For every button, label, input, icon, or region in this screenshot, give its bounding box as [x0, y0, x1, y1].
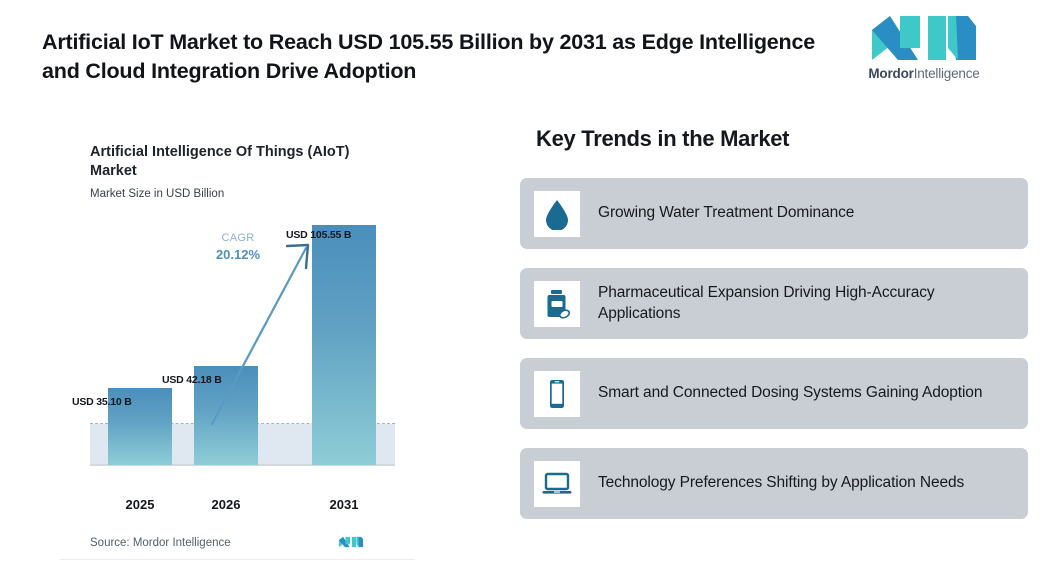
- chart-title: Artificial Intelligence Of Things (AIoT)…: [90, 143, 390, 181]
- infographic-page: Artificial IoT Market to Reach USD 105.5…: [0, 0, 1063, 583]
- page-header: Artificial IoT Market to Reach USD 105.5…: [0, 0, 1063, 110]
- water-drop-icon: [534, 191, 580, 237]
- page-title: Artificial IoT Market to Reach USD 105.5…: [42, 28, 832, 86]
- bar-value-label-2031: USD 105.55 B: [286, 229, 351, 241]
- chart-panel: Artificial Intelligence Of Things (AIoT)…: [60, 110, 415, 560]
- logo-word-light: Intelligence: [914, 66, 980, 81]
- key-trends-panel: Key Trends in the Market Growing Water T…: [520, 126, 1032, 538]
- pill-bottle-icon: [534, 281, 580, 327]
- laptop-icon: [534, 461, 580, 507]
- key-trends-title: Key Trends in the Market: [536, 126, 1032, 152]
- x-tick-2025: 2025: [108, 497, 172, 512]
- chart-source-row: Source: Mordor Intelligence: [90, 536, 395, 556]
- trend-card-label: Growing Water Treatment Dominance: [598, 203, 854, 224]
- chart-plot-area: USD 35.10 B USD 42.18 B USD 105.55 B CAG…: [90, 228, 395, 493]
- mordor-logo-icon: [868, 14, 980, 62]
- bar-value-label-2025: USD 35.10 B: [72, 396, 132, 408]
- x-tick-2026: 2026: [194, 497, 258, 512]
- smartphone-icon: [534, 371, 580, 417]
- logo-wordmark: MordorIntelligence: [868, 66, 980, 81]
- trend-card-smart-dosing-systems[interactable]: Smart and Connected Dosing Systems Gaini…: [520, 358, 1028, 429]
- cagr-value: 20.12%: [202, 247, 274, 263]
- bar-value-label-2026: USD 42.18 B: [162, 374, 222, 386]
- trend-card-list: Growing Water Treatment Dominance Pharma…: [520, 178, 1032, 519]
- chart-x-axis: 2025 2026 2031: [90, 497, 395, 519]
- trend-card-pharmaceutical-expansion[interactable]: Pharmaceutical Expansion Driving High-Ac…: [520, 268, 1028, 339]
- cagr-annotation: CAGR 20.12%: [202, 232, 274, 263]
- bar-2031: [312, 225, 376, 465]
- trend-card-label: Smart and Connected Dosing Systems Gaini…: [598, 383, 982, 404]
- trend-card-technology-preferences[interactable]: Technology Preferences Shifting by Appli…: [520, 448, 1028, 519]
- x-tick-2031: 2031: [312, 497, 376, 512]
- brand-logo: MordorIntelligence: [868, 14, 980, 81]
- cagr-label: CAGR: [202, 232, 274, 245]
- trend-card-label: Technology Preferences Shifting by Appli…: [598, 473, 964, 494]
- mordor-logo-small-icon: [338, 533, 364, 551]
- trend-card-label: Pharmaceutical Expansion Driving High-Ac…: [598, 283, 1014, 325]
- logo-word-bold: Mordor: [868, 66, 913, 81]
- chart-subtitle: Market Size in USD Billion: [90, 188, 224, 200]
- chart-source-text: Source: Mordor Intelligence: [90, 537, 231, 549]
- trend-card-water-treatment[interactable]: Growing Water Treatment Dominance: [520, 178, 1028, 249]
